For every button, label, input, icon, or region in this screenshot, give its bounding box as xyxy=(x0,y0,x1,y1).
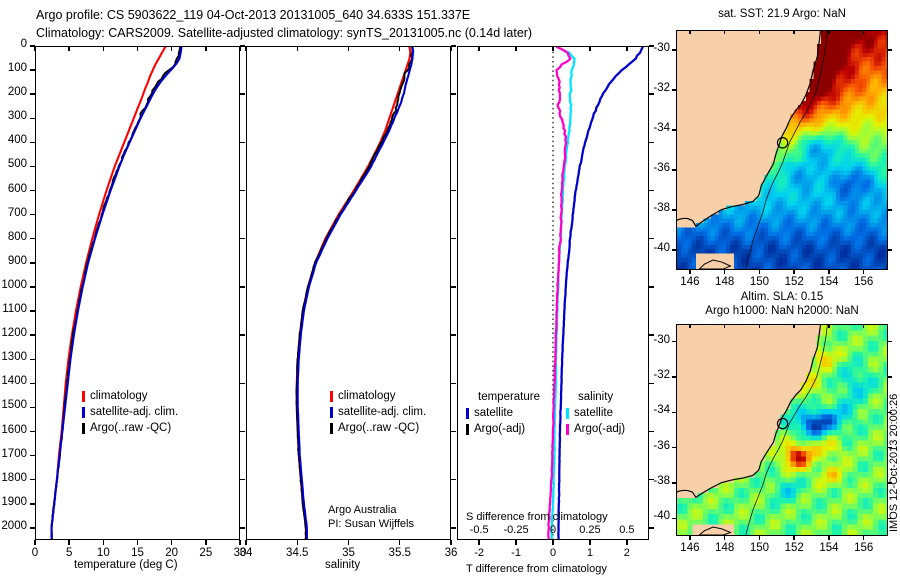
salinity-tick-top xyxy=(450,46,451,51)
depth-tick-label: 800 xyxy=(0,231,27,243)
salinity-difference-axis-label: S difference from climatology xyxy=(466,511,608,523)
argo-pi-credit: PI: Susan Wijffels xyxy=(328,518,414,530)
depth-tick xyxy=(30,310,35,311)
temperature-legend-item-label: satellite-adj. clim. xyxy=(90,406,178,418)
sla-map-lon-label: 148 xyxy=(707,542,743,554)
depth-tick xyxy=(30,383,35,384)
legend-swatch xyxy=(466,408,469,419)
depth-tick-right xyxy=(240,527,245,528)
sst-map-lat-tick xyxy=(672,209,676,210)
sst-map-lon-tick-top xyxy=(689,30,690,34)
legend-swatch xyxy=(82,407,85,418)
depth-tick-label: 1300 xyxy=(0,351,27,363)
temperature-legend-item-label: Argo(..raw -QC) xyxy=(90,422,171,434)
sst-map-lat-tick xyxy=(672,89,676,90)
sla-map-lat-tick xyxy=(672,412,676,413)
salinity-legend-item-label: climatology xyxy=(338,390,396,402)
temperature-tick-top xyxy=(34,46,35,51)
depth-tick xyxy=(30,69,35,70)
sla-map-lon-tick xyxy=(759,536,760,540)
salinity-tick xyxy=(245,540,246,545)
salinity-tick-label: 34 xyxy=(226,547,266,559)
sst-map-lon-tick-top xyxy=(759,30,760,34)
temperature-diff-tick-label: -1 xyxy=(496,547,536,559)
temperature-tick-label: 20 xyxy=(156,547,188,559)
difference-profile-canvas xyxy=(458,47,648,539)
sla-map-lon-tick xyxy=(724,536,725,540)
imos-timestamp: IMOS 12-Oct-2013 20:00:26 xyxy=(888,394,900,532)
legend-swatch xyxy=(466,424,469,435)
depth-tick xyxy=(30,238,35,239)
sst-map-lon-label: 150 xyxy=(741,276,777,288)
depth-tick-right xyxy=(649,238,654,239)
sst-map-title: sat. SST: 21.9 Argo: NaN xyxy=(668,8,896,20)
sst-map-lat-label: -34 xyxy=(636,122,670,134)
sla-map-lat-label: -32 xyxy=(636,369,670,381)
depth-tick-label: 1800 xyxy=(0,472,27,484)
temperature-tick-label: 10 xyxy=(87,547,119,559)
depth-tick xyxy=(30,214,35,215)
difference-legend-item-label: satellite xyxy=(474,407,513,419)
depth-tick xyxy=(30,93,35,94)
depth-tick-right xyxy=(451,238,456,239)
depth-tick-right xyxy=(649,286,654,287)
depth-tick-right xyxy=(451,527,456,528)
sla-map-lat-tick xyxy=(672,482,676,483)
page-title-line2: Climatology: CARS2009. Satellite-adjuste… xyxy=(36,26,532,40)
sla-map-lon-tick xyxy=(689,536,690,540)
sst-map-lon-label: 146 xyxy=(672,276,708,288)
salinity-tick-top xyxy=(348,46,349,51)
depth-tick xyxy=(30,503,35,504)
temperature-tick xyxy=(34,540,35,545)
sla-map-lat-label: -38 xyxy=(636,475,670,487)
temperature-legend-item-label: climatology xyxy=(90,390,148,402)
salinity-diff-tick xyxy=(478,540,479,545)
temperature-tick-top xyxy=(103,46,104,51)
depth-tick-right xyxy=(649,431,654,432)
temperature-tick xyxy=(171,540,172,545)
sla-map-lon-tick-top xyxy=(689,324,690,328)
salinity-tick xyxy=(297,540,298,545)
depth-tick-label: 1500 xyxy=(0,399,27,411)
sla-map-lon-tick-top xyxy=(793,324,794,328)
temperature-tick xyxy=(239,540,240,545)
sst-map-lon-label: 152 xyxy=(776,276,812,288)
sla-map-lat-tick-right xyxy=(888,376,892,377)
sla-map-lat-label: -40 xyxy=(636,510,670,522)
depth-tick-right xyxy=(240,190,245,191)
temperature-tick xyxy=(103,540,104,545)
salinity-tick-top xyxy=(245,46,246,51)
sst-map-lon-tick xyxy=(759,270,760,274)
depth-tick-label: 400 xyxy=(0,134,27,146)
depth-tick-right xyxy=(451,142,456,143)
depth-tick-label: 0 xyxy=(0,38,27,50)
depth-tick xyxy=(30,407,35,408)
salinity-legend-item-label: Argo(..raw -QC) xyxy=(338,422,419,434)
salinity-tick-label: 35.5 xyxy=(380,547,420,559)
depth-tick-label: 1400 xyxy=(0,375,27,387)
depth-tick-right xyxy=(240,142,245,143)
difference-legend-salinity-header: salinity xyxy=(578,391,613,403)
difference-profile-plot xyxy=(457,46,649,540)
depth-tick-label: 100 xyxy=(0,62,27,74)
sla-map-lon-tick-top xyxy=(724,324,725,328)
sla-map-title-line2: Argo h1000: NaN h2000: NaN xyxy=(668,305,896,317)
sla-map-lon-tick xyxy=(863,536,864,540)
depth-tick-right xyxy=(451,286,456,287)
sst-map xyxy=(676,30,888,270)
sla-map-lat-label: -30 xyxy=(636,334,670,346)
salinity-diff-tick-top xyxy=(515,46,516,51)
salinity-diff-tick xyxy=(552,540,553,545)
salinity-tick-top xyxy=(297,46,298,51)
legend-swatch xyxy=(330,423,333,434)
depth-tick-label: 1100 xyxy=(0,303,27,315)
temperature-tick-top xyxy=(239,46,240,51)
sla-map-lat-tick xyxy=(672,518,676,519)
sst-map-lon-label: 154 xyxy=(811,276,847,288)
temperature-diff-tick-label: 0 xyxy=(533,547,573,559)
temperature-diff-tick-label: 2 xyxy=(607,547,647,559)
sst-map-canvas xyxy=(677,31,887,269)
sst-map-lat-tick-right xyxy=(888,249,892,250)
sst-map-lat-tick-right xyxy=(888,169,892,170)
salinity-diff-tick-top xyxy=(626,46,627,51)
salinity-legend-item-label: satellite-adj. clim. xyxy=(338,406,426,418)
difference-legend-temperature-header: temperature xyxy=(478,391,540,403)
temperature-tick xyxy=(137,540,138,545)
salinity-tick-label: 34.5 xyxy=(277,547,317,559)
depth-tick-right xyxy=(451,431,456,432)
sst-map-lat-tick xyxy=(672,249,676,250)
sst-map-lon-tick xyxy=(724,270,725,274)
depth-tick-right xyxy=(451,479,456,480)
depth-tick-right xyxy=(240,383,245,384)
sst-map-lat-label: -32 xyxy=(636,82,670,94)
depth-tick-right xyxy=(451,190,456,191)
depth-tick-right xyxy=(240,238,245,239)
depth-tick-label: 300 xyxy=(0,110,27,122)
difference-legend-item-label: Argo(-adj) xyxy=(574,423,625,435)
sla-map-canvas xyxy=(677,325,887,535)
sst-map-lat-label: -30 xyxy=(636,42,670,54)
depth-tick-label: 900 xyxy=(0,255,27,267)
depth-tick-right xyxy=(240,334,245,335)
depth-tick-label: 700 xyxy=(0,207,27,219)
salinity-diff-tick-label: 0.5 xyxy=(605,524,649,536)
salinity-profile-canvas xyxy=(247,47,450,539)
depth-tick-label: 2000 xyxy=(0,520,27,532)
temperature-profile-plot xyxy=(35,46,240,540)
salinity-tick xyxy=(399,540,400,545)
sla-map-lon-label: 156 xyxy=(846,542,882,554)
depth-tick xyxy=(30,334,35,335)
salinity-diff-tick xyxy=(589,540,590,545)
depth-tick-label: 1900 xyxy=(0,496,27,508)
sst-map-lon-tick xyxy=(828,270,829,274)
sst-map-lon-tick-top xyxy=(863,30,864,34)
argo-program-credit: Argo Australia xyxy=(328,504,396,516)
temperature-tick xyxy=(205,540,206,545)
depth-tick xyxy=(30,286,35,287)
salinity-diff-tick-top xyxy=(589,46,590,51)
sst-map-lat-tick xyxy=(672,169,676,170)
sst-map-lat-tick-right xyxy=(888,129,892,130)
salinity-diff-tick-top xyxy=(478,46,479,51)
salinity-tick xyxy=(348,540,349,545)
salinity-profile-plot xyxy=(246,46,451,540)
salinity-axis-label: salinity xyxy=(325,559,360,571)
depth-tick-right xyxy=(649,142,654,143)
depth-tick-right xyxy=(240,431,245,432)
depth-tick xyxy=(30,431,35,432)
sla-map-lon-label: 152 xyxy=(776,542,812,554)
temperature-axis-label: temperature (deg C) xyxy=(74,559,178,571)
temperature-tick-top xyxy=(137,46,138,51)
depth-tick-label: 1200 xyxy=(0,327,27,339)
sla-map-lat-label: -36 xyxy=(636,440,670,452)
legend-swatch xyxy=(566,424,569,435)
legend-swatch xyxy=(330,407,333,418)
sla-map-lon-tick xyxy=(828,536,829,540)
temperature-tick xyxy=(68,540,69,545)
sst-map-lat-label: -36 xyxy=(636,162,670,174)
salinity-tick-top xyxy=(399,46,400,51)
sst-map-lon-tick-top xyxy=(793,30,794,34)
sla-map-lon-label: 146 xyxy=(672,542,708,554)
sla-map-title-line1: Altim. SLA: 0.15 xyxy=(668,291,896,303)
temperature-tick-top xyxy=(171,46,172,51)
depth-tick-label: 1000 xyxy=(0,279,27,291)
depth-tick-right xyxy=(240,479,245,480)
temperature-tick-top xyxy=(68,46,69,51)
sst-map-lat-label: -40 xyxy=(636,242,670,254)
salinity-tick xyxy=(450,540,451,545)
legend-swatch xyxy=(82,423,85,434)
depth-tick xyxy=(30,166,35,167)
sla-map-lat-tick xyxy=(672,447,676,448)
sst-map-lon-tick xyxy=(863,270,864,274)
sst-map-lon-tick-top xyxy=(828,30,829,34)
sla-map-lon-tick-top xyxy=(863,324,864,328)
salinity-diff-tick xyxy=(515,540,516,545)
temperature-diff-tick-label: -2 xyxy=(459,547,499,559)
temperature-tick-label: 25 xyxy=(190,547,222,559)
salinity-diff-tick-top xyxy=(552,46,553,51)
sst-map-lon-tick-top xyxy=(724,30,725,34)
sla-map-lon-tick-top xyxy=(828,324,829,328)
depth-tick-right xyxy=(649,527,654,528)
depth-tick-label: 1700 xyxy=(0,448,27,460)
depth-tick xyxy=(30,479,35,480)
temperature-tick-top xyxy=(205,46,206,51)
sla-map-lat-tick xyxy=(672,341,676,342)
difference-legend-item-label: satellite xyxy=(574,407,613,419)
legend-swatch xyxy=(330,391,333,402)
temperature-profile-canvas xyxy=(36,47,239,539)
sst-map-lon-tick xyxy=(793,270,794,274)
depth-tick xyxy=(30,262,35,263)
sst-map-lat-tick-right xyxy=(888,209,892,210)
depth-tick-right xyxy=(451,93,456,94)
sst-map-lat-tick-right xyxy=(888,89,892,90)
depth-tick xyxy=(30,190,35,191)
depth-tick-right xyxy=(240,286,245,287)
salinity-tick-label: 35 xyxy=(329,547,369,559)
sla-map-lat-tick xyxy=(672,376,676,377)
depth-tick-label: 600 xyxy=(0,183,27,195)
sst-map-lon-tick xyxy=(689,270,690,274)
sla-map-lon-label: 154 xyxy=(811,542,847,554)
difference-legend-item-label: Argo(-adj) xyxy=(474,423,525,435)
sla-map-lon-label: 150 xyxy=(741,542,777,554)
legend-swatch xyxy=(82,391,85,402)
sla-map-lat-tick-right xyxy=(888,341,892,342)
sla-map-lat-label: -34 xyxy=(636,404,670,416)
sla-map-lon-tick xyxy=(793,536,794,540)
sla-map-lon-tick-top xyxy=(759,324,760,328)
depth-tick xyxy=(30,142,35,143)
depth-tick-label: 1600 xyxy=(0,424,27,436)
depth-tick-right xyxy=(649,383,654,384)
temperature-difference-axis-label: T difference from climatology xyxy=(466,563,607,575)
sst-map-lat-label: -38 xyxy=(636,202,670,214)
depth-tick-label: 200 xyxy=(0,86,27,98)
depth-tick-right xyxy=(451,45,456,46)
depth-tick-right xyxy=(649,190,654,191)
salinity-diff-tick xyxy=(626,540,627,545)
depth-tick-label: 500 xyxy=(0,158,27,170)
sst-map-lat-tick xyxy=(672,49,676,50)
sst-map-lat-tick xyxy=(672,129,676,130)
depth-tick xyxy=(30,527,35,528)
depth-tick-right xyxy=(240,45,245,46)
sst-map-lon-label: 156 xyxy=(846,276,882,288)
temperature-diff-tick-label: 1 xyxy=(570,547,610,559)
temperature-tick-label: 5 xyxy=(53,547,85,559)
depth-tick xyxy=(30,455,35,456)
sla-map xyxy=(676,324,888,536)
depth-tick-right xyxy=(240,93,245,94)
legend-swatch xyxy=(566,408,569,419)
depth-tick xyxy=(30,359,35,360)
temperature-tick-label: 0 xyxy=(19,547,51,559)
sst-map-lat-tick-right xyxy=(888,49,892,50)
sst-map-lon-label: 148 xyxy=(707,276,743,288)
depth-tick xyxy=(30,118,35,119)
depth-tick-right xyxy=(451,383,456,384)
temperature-tick-label: 15 xyxy=(122,547,154,559)
depth-tick-right xyxy=(451,334,456,335)
page-title-line1: Argo profile: CS 5903622_119 04-Oct-2013… xyxy=(36,8,470,22)
